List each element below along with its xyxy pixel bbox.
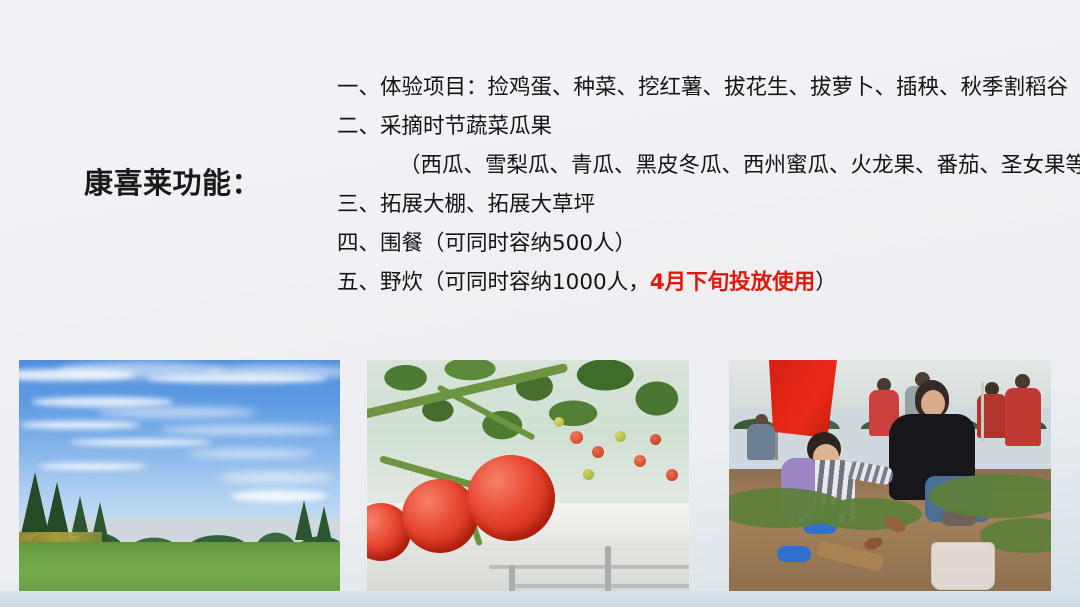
background-tomato (592, 446, 604, 458)
cloud-wisp (38, 463, 147, 470)
conifer-tree (315, 506, 333, 546)
cloud-wisp (160, 425, 333, 434)
list-item: 一、体验项目：捡鸡蛋、种菜、挖红薯、拔花生、拔萝卜、插秧、秋季割稻谷 (337, 68, 1037, 107)
highlight-text: 4月下旬投放使用 (650, 270, 815, 295)
child-shoe (777, 546, 811, 562)
bench-rail (509, 584, 689, 588)
list-item: 四、围餐（可同时容纳500人） (337, 224, 1037, 263)
bottom-strip (0, 591, 1080, 607)
page-title: 康喜莱功能： (84, 160, 261, 202)
list-item-prefix: 五、野炊（可同时容纳1000人， (337, 270, 650, 295)
cloud-wisp (186, 449, 314, 458)
list-item-suffix: ） (815, 270, 837, 295)
background-person (1005, 388, 1041, 446)
slide-canvas: 康喜莱功能： 一、体验项目：捡鸡蛋、种菜、挖红薯、拔花生、拔萝卜、插秧、秋季割稻… (0, 0, 1080, 607)
plastic-bag (931, 542, 995, 590)
red-flag (769, 360, 837, 438)
list-item: 三、拓展大棚、拓展大草坪 (337, 185, 1037, 224)
digging-tool (981, 382, 984, 442)
conifer-tree (295, 500, 313, 540)
photo-tomato (367, 360, 689, 598)
list-item-sub: （西瓜、雪梨瓜、青瓜、黑皮冬瓜、西州蜜瓜、火龙果、番茄、圣女果等） (337, 146, 1037, 185)
cloud-wisp (32, 397, 173, 406)
photo-harvest (729, 360, 1051, 607)
feature-list: 一、体验项目：捡鸡蛋、种菜、挖红薯、拔花生、拔萝卜、插秧、秋季割稻谷 二、采摘时… (337, 68, 1037, 302)
cloud-wisp (205, 365, 340, 379)
list-item: 二、采摘时节蔬菜瓜果 (337, 107, 1037, 146)
list-item-highlighted: 五、野炊（可同时容纳1000人，4月下旬投放使用） (337, 263, 1037, 302)
tomato-fruit (467, 455, 555, 541)
conifer-tree (71, 496, 89, 536)
woman-face (921, 390, 945, 417)
lawn-layer (19, 542, 340, 593)
photo-lawn (19, 360, 340, 593)
bench-rail (489, 565, 689, 569)
cloud-wisp (96, 407, 257, 419)
background-tomato-unripe (554, 417, 564, 427)
cloud-wisp (19, 421, 141, 429)
background-person-head (1015, 374, 1030, 389)
background-person (747, 424, 775, 460)
